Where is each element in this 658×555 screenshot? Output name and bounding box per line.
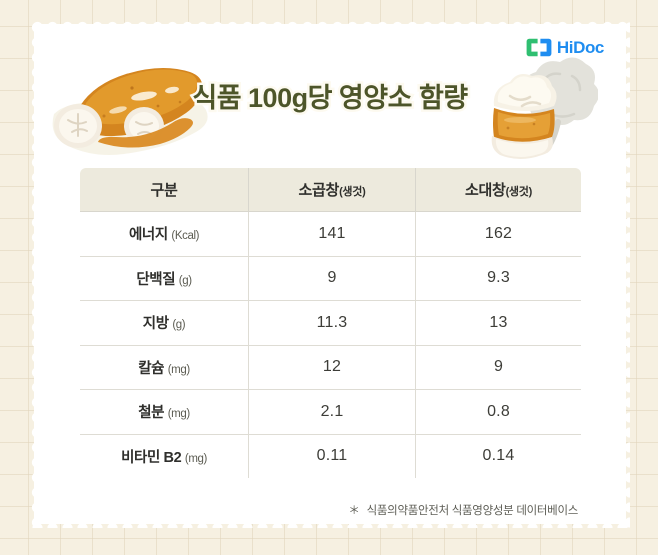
nutrient-unit: (mg) <box>185 453 207 465</box>
column-header-large-intestine: 소대창(생것) <box>416 168 582 212</box>
row-label-calcium: 칼슘 (mg) <box>80 345 249 390</box>
column-header-small-intestine-note: (생것) <box>339 186 365 198</box>
nutrient-unit: (Kcal) <box>171 230 199 242</box>
cell-iron-large: 0.8 <box>416 390 582 435</box>
nutrient-unit: (mg) <box>168 364 190 376</box>
row-label-energy: 에너지 (Kcal) <box>80 212 249 257</box>
nutrient-name: 철분 <box>138 405 164 421</box>
infographic-page: HiDoc <box>0 0 658 555</box>
table-row: 지방 (g) 11.3 13 <box>80 301 582 346</box>
nutrient-unit: (mg) <box>168 408 190 420</box>
paper-edge-top <box>30 20 630 27</box>
row-label-fat: 지방 (g) <box>80 301 249 346</box>
white-paper-card: HiDoc <box>34 24 626 524</box>
nutrition-table-wrapper: 구분 소곱창(생것) 소대창(생것) 에너지 (Kc <box>79 167 581 479</box>
table-header-row: 구분 소곱창(생것) 소대창(생것) <box>80 168 582 212</box>
table-row: 철분 (mg) 2.1 0.8 <box>80 390 582 435</box>
column-header-category: 구분 <box>80 168 249 212</box>
source-footnote: ＊식품의약품안전처 식품영양성분 데이터베이스 <box>348 502 578 518</box>
table-row: 에너지 (Kcal) 141 162 <box>80 212 582 257</box>
cell-fat-small: 11.3 <box>249 301 416 346</box>
nutrient-name: 지방 <box>143 316 169 332</box>
column-header-small-intestine: 소곱창(생것) <box>249 168 416 212</box>
column-header-large-intestine-note: (생것) <box>506 186 532 198</box>
row-label-protein: 단백질 (g) <box>80 256 249 301</box>
nutrient-unit: (g) <box>172 319 185 331</box>
column-header-large-intestine-label: 소대창 <box>465 182 506 199</box>
cell-energy-small: 141 <box>249 212 416 257</box>
row-label-vitamin-b2: 비타민 B2 (mg) <box>80 434 249 479</box>
nutrient-name: 비타민 B2 <box>121 450 181 466</box>
nutrition-table: 구분 소곱창(생것) 소대창(생것) 에너지 (Kc <box>79 167 582 479</box>
cell-iron-small: 2.1 <box>249 390 416 435</box>
nutrient-unit: (g) <box>179 275 192 287</box>
nutrient-name: 단백질 <box>136 272 175 288</box>
nutrient-name: 칼슘 <box>138 361 164 377</box>
page-title: 식품 100g당 영양소 함량 <box>34 82 626 114</box>
cell-protein-large: 9.3 <box>416 256 582 301</box>
table-row: 단백질 (g) 9 9.3 <box>80 256 582 301</box>
cell-vitamin-b2-large: 0.14 <box>416 434 582 479</box>
cell-protein-small: 9 <box>249 256 416 301</box>
paper-edge-bottom <box>30 521 630 528</box>
cell-calcium-small: 12 <box>249 345 416 390</box>
cell-vitamin-b2-small: 0.11 <box>249 434 416 479</box>
table-row: 칼슘 (mg) 12 9 <box>80 345 582 390</box>
row-label-iron: 철분 (mg) <box>80 390 249 435</box>
table-row: 비타민 B2 (mg) 0.11 0.14 <box>80 434 582 479</box>
cell-calcium-large: 9 <box>416 345 582 390</box>
source-footnote-text: 식품의약품안전처 식품영양성분 데이터베이스 <box>367 505 578 517</box>
column-header-small-intestine-label: 소곱창 <box>299 182 340 199</box>
nutrient-name: 에너지 <box>129 227 168 243</box>
cell-fat-large: 13 <box>416 301 582 346</box>
column-header-category-label: 구분 <box>150 182 177 199</box>
cell-energy-large: 162 <box>416 212 582 257</box>
asterisk-icon: ＊ <box>348 505 359 517</box>
